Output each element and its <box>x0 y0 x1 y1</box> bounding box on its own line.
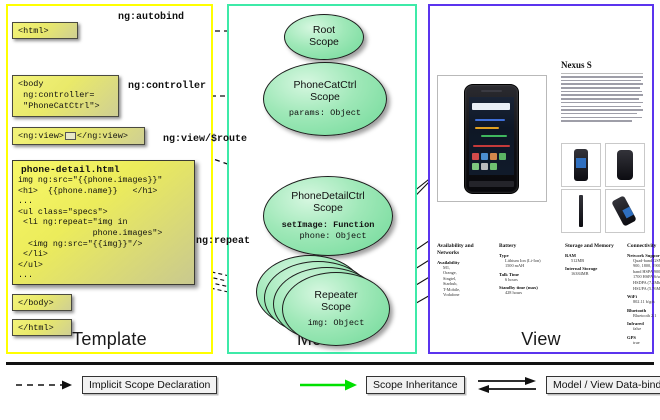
scope-phonedetailctrl-property-phone: phone: Object <box>299 231 366 241</box>
phone-app-icon <box>490 163 497 170</box>
spec-value: false <box>633 326 660 332</box>
spec-column-availability: Availability and Networks Availability M… <box>437 243 489 298</box>
solid-arrow-icon <box>298 378 358 392</box>
phone-app-icon <box>472 163 479 170</box>
code-chip-body-open: <body ng:controller= "PhoneCatCtrl"> <box>12 75 119 117</box>
scope-phonecatctrl-property-params: params: Object <box>289 108 361 118</box>
legend: Implicit Scope Declaration Scope Inherit… <box>6 374 654 402</box>
spec-value: 428 hours <box>505 290 557 296</box>
spec-column-heading: Connectivity <box>627 243 660 250</box>
code-chip-html-close: </html> <box>12 319 72 336</box>
code-chip-ng-view: <ng:view></ng:view> <box>12 127 145 145</box>
spec-value: 16384MB <box>571 271 619 277</box>
phone-app-icon <box>481 153 488 160</box>
phone-search-bar-icon <box>472 103 510 110</box>
phone-hero-image-frame <box>437 75 547 202</box>
phone-device-image <box>464 84 519 194</box>
scope-repeater-property-img: img: Object <box>308 318 365 328</box>
spec-value: 512MB <box>571 258 619 264</box>
scope-phonedetailctrl-property-setimage: setImage: Function <box>282 220 375 230</box>
edge-label-ng-controller: ng:controller <box>128 81 206 92</box>
legend-label: Implicit Scope Declaration <box>82 376 217 394</box>
code-chip-body-close: </body> <box>12 294 72 311</box>
scope-repeater-name-line2: Scope <box>321 301 351 313</box>
phone-thumbnail[interactable] <box>605 189 645 233</box>
phone-app-icon-row-1 <box>472 153 511 161</box>
spec-column-battery: Battery Type Lithium Ion (Li-Ion) 1500 m… <box>499 243 557 296</box>
spec-value: Bluetooth 2.1 <box>633 313 660 319</box>
spec-value: Vodafone <box>443 292 489 298</box>
spec-column-storage: Storage and Memory RAM 512MB Internal St… <box>565 243 619 277</box>
scope-phonecatctrl: PhoneCatCtrlScope params: Object <box>263 62 387 136</box>
spec-value: 6 hours <box>505 277 557 283</box>
scope-root-name-line1: Root <box>313 24 335 36</box>
phone-thumbnail[interactable] <box>561 143 601 187</box>
edge-label-ng-view-route: ng:view/$route <box>163 134 247 145</box>
phone-thumbnail[interactable] <box>561 189 601 233</box>
phone-widget-line-2 <box>475 127 499 129</box>
spec-column-heading: Storage and Memory <box>565 243 619 250</box>
dashed-arrow-icon <box>14 378 74 392</box>
spec-column-heading: Availability and Networks <box>437 243 489 257</box>
code-chip-html-open: <html> <box>12 22 78 39</box>
spec-value: true <box>633 340 660 346</box>
scope-root-name-line2: Scope <box>309 36 339 48</box>
scope-phonedetailctrl: PhoneDetailCtrlScope setImage: Functionp… <box>263 176 393 256</box>
callout-code: img ng:src="{{phone.images}}" <h1> {{pho… <box>13 176 194 282</box>
phone-widget-line-4 <box>473 145 510 147</box>
scope-phonecatctrl-name-line2: Scope <box>310 91 340 103</box>
product-title: Nexus S <box>561 60 592 70</box>
legend-item-implicit-scope-declaration: Implicit Scope Declaration <box>14 374 217 396</box>
phone-widget-line-3 <box>481 135 507 137</box>
spec-value: 802.11 b/g/n <box>633 299 660 305</box>
phone-app-icon <box>472 153 479 160</box>
legend-divider <box>6 362 654 365</box>
legend-label: Scope Inheritance <box>366 376 465 394</box>
edge-label-ng-autobind: ng:autobind <box>118 12 184 23</box>
legend-item-scope-inheritance: Scope Inheritance <box>298 374 465 396</box>
phone-app-icon <box>499 153 506 160</box>
spec-column-heading: Battery <box>499 243 557 250</box>
template-file-callout: phone-detail.html img ng:src="{{phone.im… <box>12 160 195 285</box>
phone-thumbnail[interactable] <box>605 143 645 187</box>
phone-speaker <box>481 90 502 92</box>
view-rendered-page: Nexus S Availability and Network <box>437 55 647 290</box>
phone-app-icon <box>481 163 488 170</box>
callout-filename: phone-detail.html <box>13 161 194 176</box>
double-arrow-icon <box>476 375 538 395</box>
placeholder-box-icon <box>65 132 76 140</box>
spec-value: HSDPA (7.2Mbps) <box>633 280 660 286</box>
spec-value: 1500 mAH <box>505 263 557 269</box>
legend-item-model-view-data-binding: Model / View Data-binding <box>476 374 660 396</box>
ng-view-close-tag: </ng:view> <box>77 131 128 141</box>
product-title-rule <box>561 73 643 74</box>
scope-phonecatctrl-name-line1: PhoneCatCtrl <box>293 79 356 91</box>
phone-navigation-bar <box>469 181 514 187</box>
spec-value: HSUPA (5.76Mbps) <box>633 286 660 292</box>
scope-phonedetailctrl-name-line1: PhoneDetailCtrl <box>291 190 365 202</box>
product-description-text <box>561 76 643 134</box>
scope-root: RootScope <box>284 14 364 60</box>
spec-column-connectivity: Connectivity Network Support Quad-band G… <box>627 243 660 346</box>
legend-label: Model / View Data-binding <box>546 376 660 394</box>
phone-widget-line-1 <box>475 119 505 121</box>
scope-repeater: RepeaterScope img: Object <box>282 272 390 346</box>
phone-app-icon <box>490 153 497 160</box>
scope-phonedetailctrl-name-line2: Scope <box>313 202 343 214</box>
phone-screen <box>469 97 514 175</box>
edge-label-ng-repeat: ng:repeat <box>196 236 250 247</box>
scope-repeater-name-line1: Repeater <box>314 289 357 301</box>
ng-view-open-tag: <ng:view> <box>18 131 64 141</box>
product-spec-table: Availability and Networks Availability M… <box>437 243 647 333</box>
diagram-canvas: Template <html> <body ng:controller= "Ph… <box>0 0 660 420</box>
phone-app-icon-row-2 <box>472 163 511 171</box>
